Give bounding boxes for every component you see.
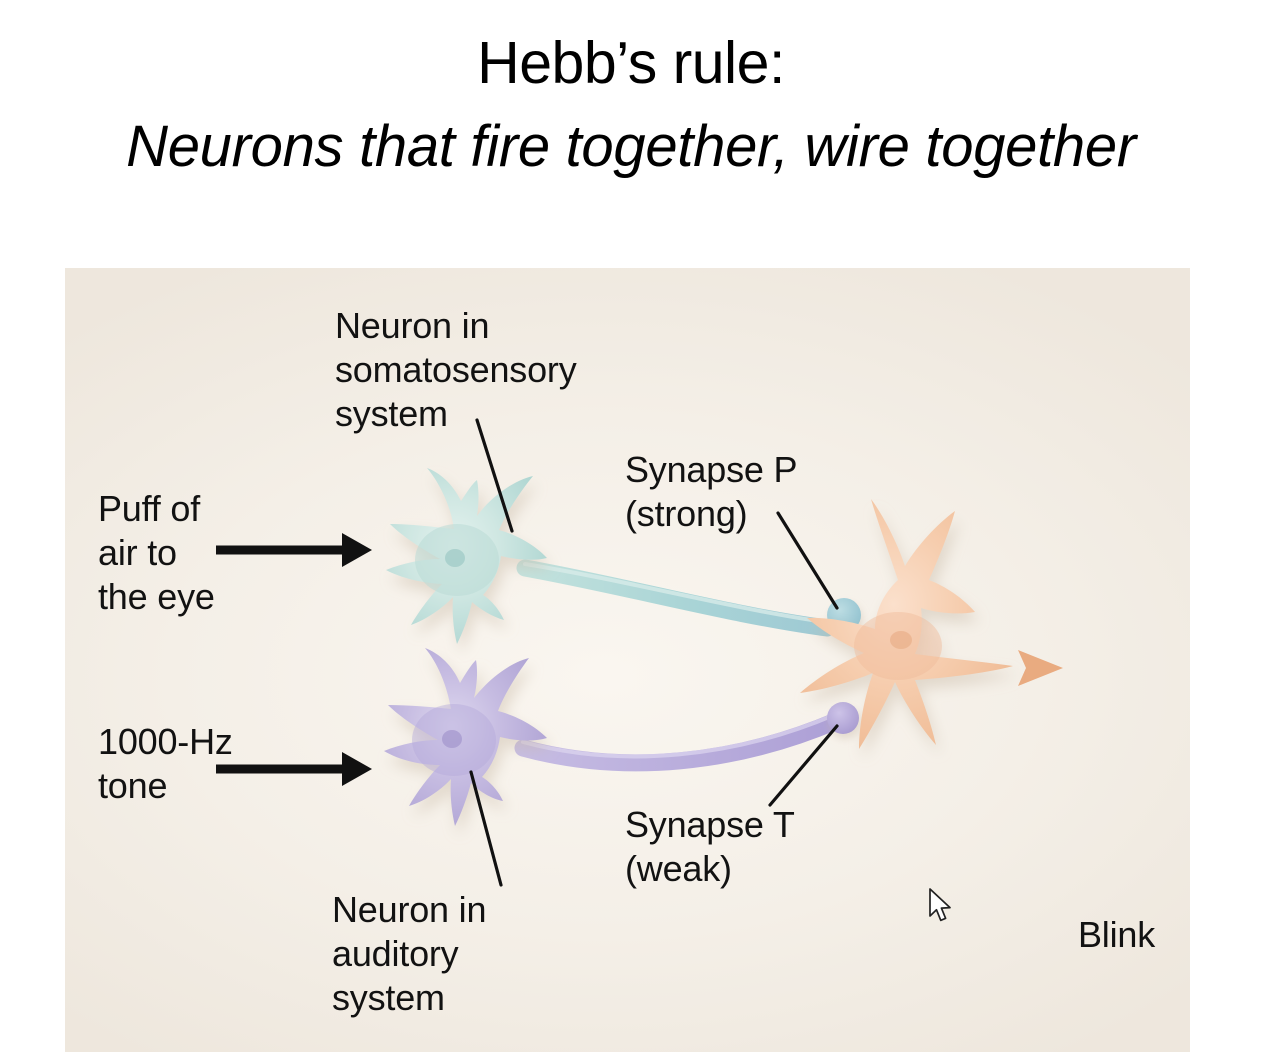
neuron-circuit-illustration — [65, 268, 1190, 1052]
somatosensory-neuron — [386, 468, 827, 644]
leader-line-synapse-p — [778, 513, 837, 608]
hebbs-rule-diagram-panel: Neuron in somatosensory system Puff of a… — [65, 268, 1190, 1052]
auditory-neuron — [384, 648, 836, 826]
puff-of-air-arrow-icon — [216, 533, 372, 567]
synapse-t-terminal — [827, 702, 859, 734]
page-subtitle: Neurons that fire together, wire togethe… — [0, 118, 1262, 176]
page-title: Hebb’s rule: — [0, 34, 1262, 93]
tone-arrow-icon — [216, 752, 372, 786]
leader-lines — [471, 420, 837, 885]
